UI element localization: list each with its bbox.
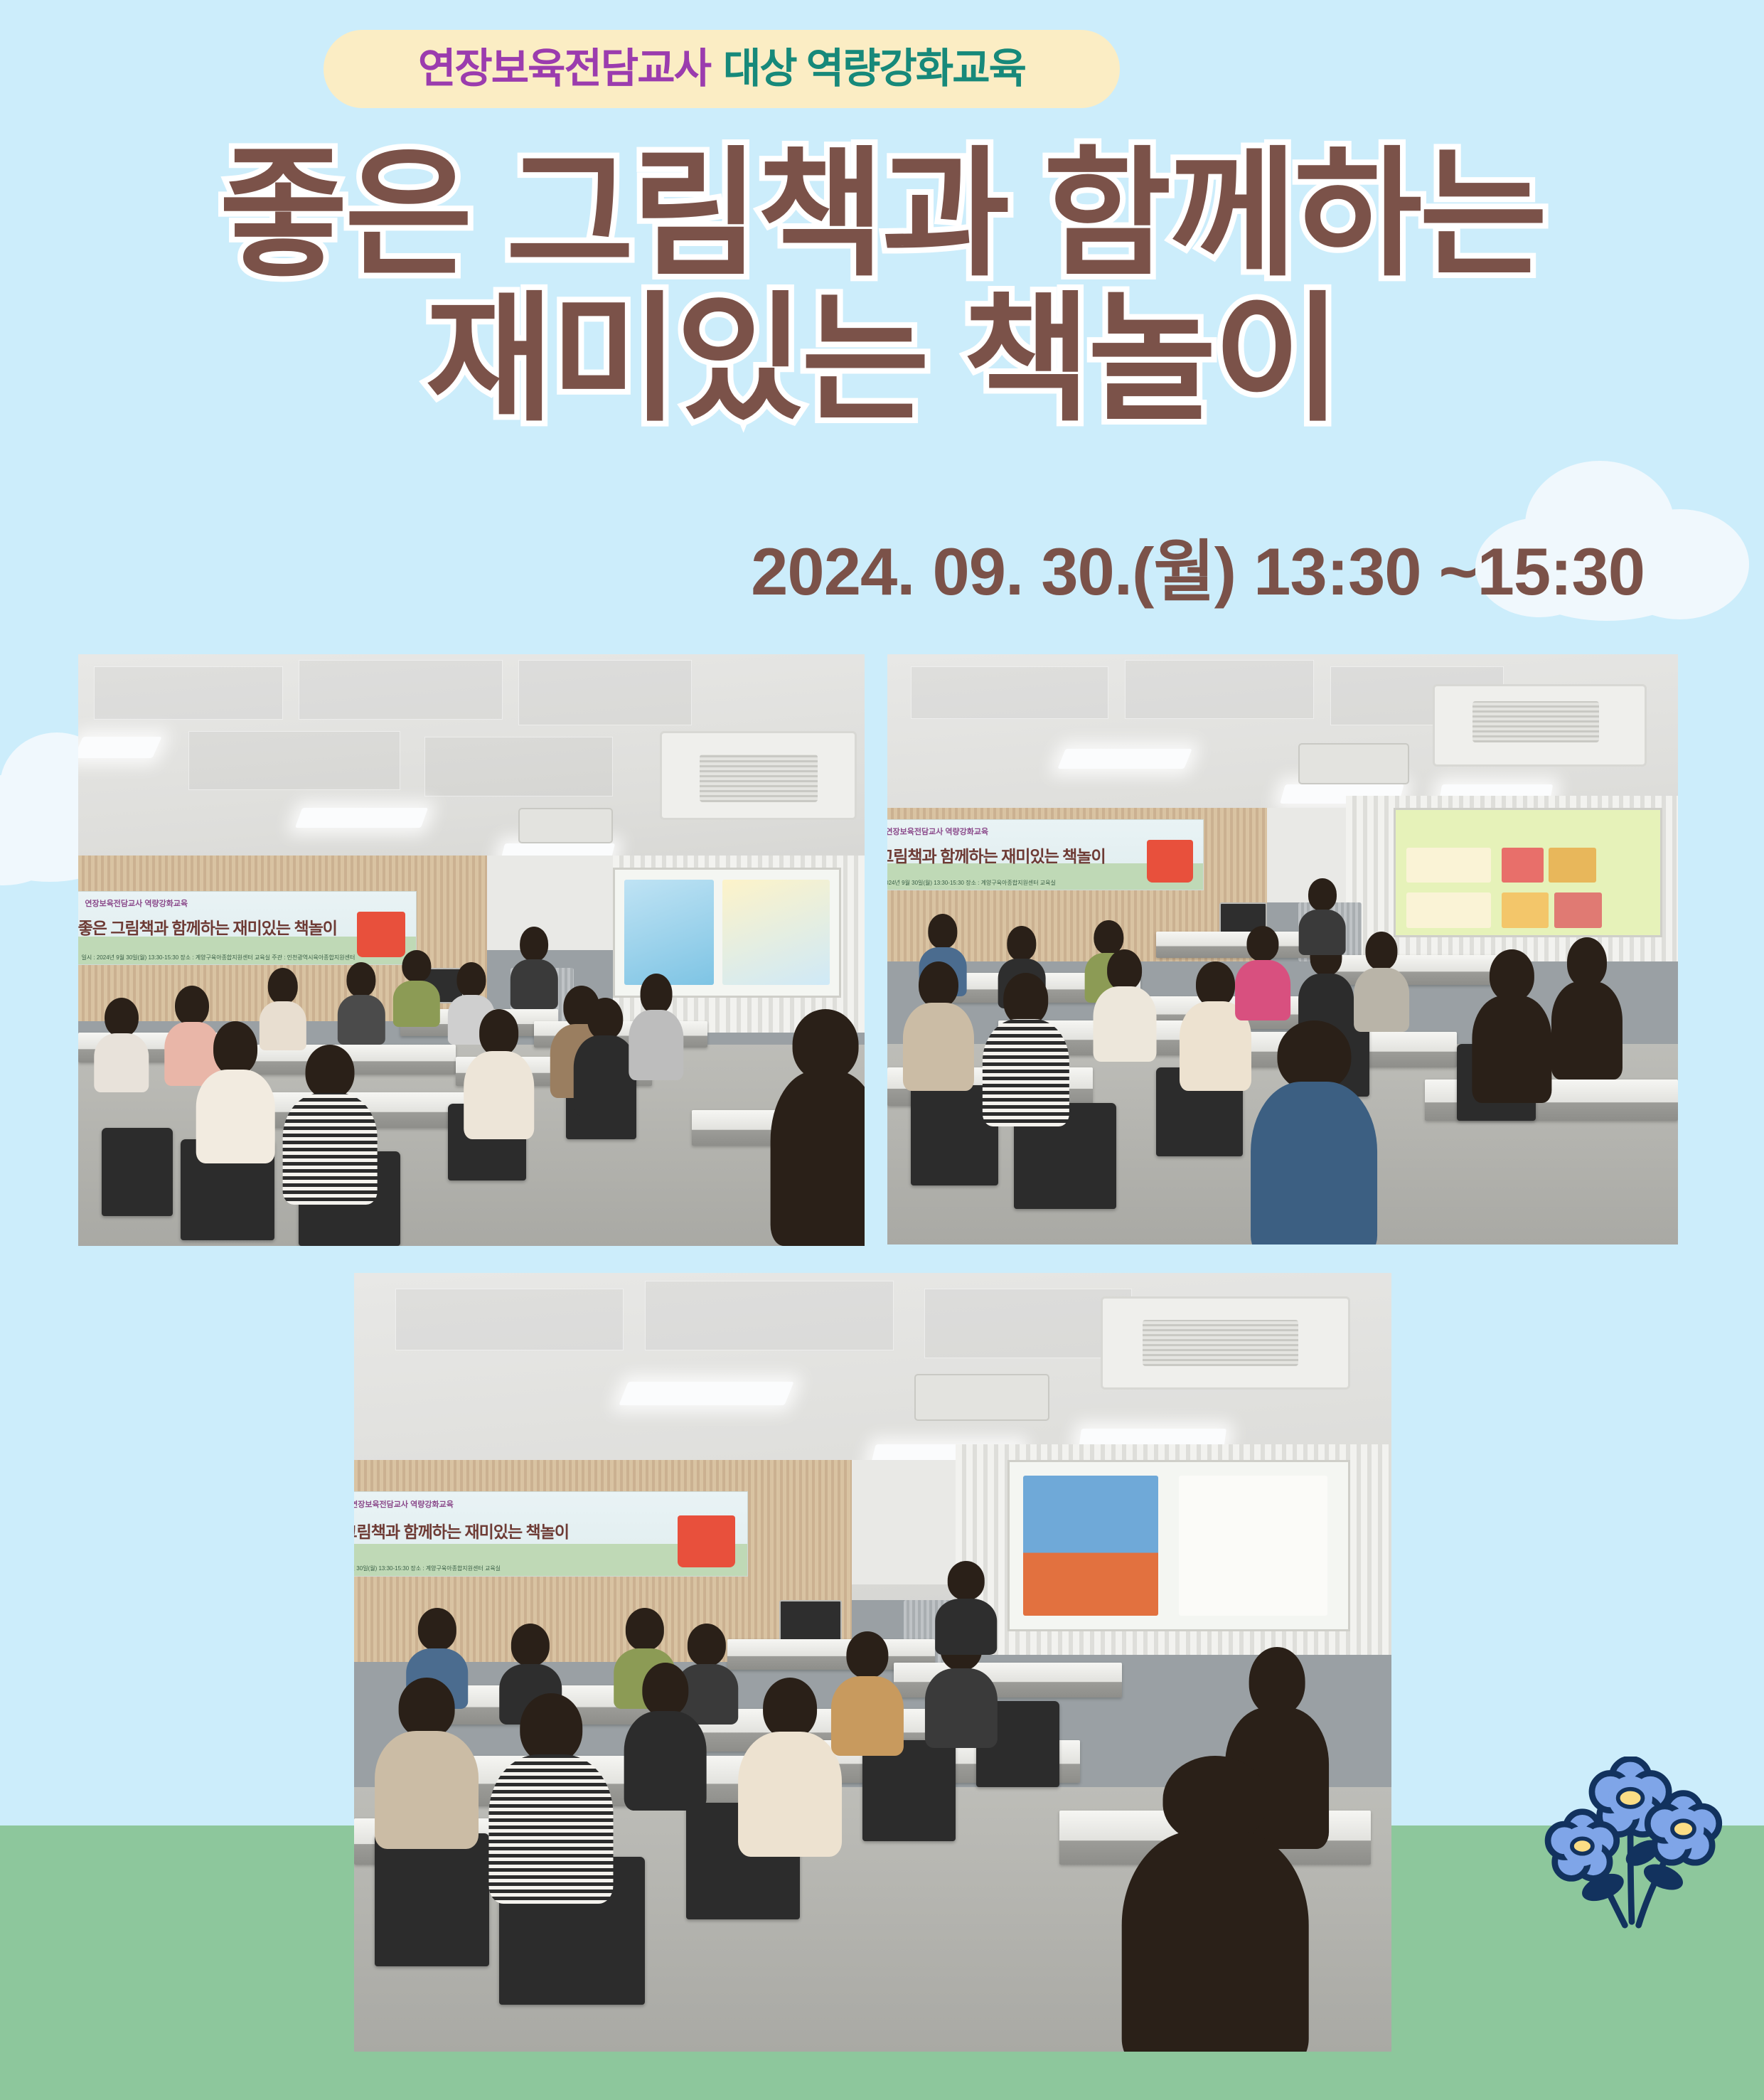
photo-banner-top-1: 연장보육전담교사 역량강화교육: [85, 897, 188, 909]
photo-banner-foot-3: 9월 30일(월) 13:30-15:30 장소 : 계양구육아종합지원센터 교…: [354, 1565, 501, 1572]
event-photo-3: 연장보육전담교사 역량강화교육 그림책과 함께하는 재미있는 책놀이 9월 30…: [354, 1273, 1391, 2052]
flower-bunch-icon: [1529, 1757, 1735, 1977]
header-badge: 연장보육전담교사 대상 역량강화교육: [324, 30, 1120, 108]
badge-primary-text: 연장보육전담교사: [418, 48, 710, 90]
event-datetime: 2024. 09. 30.(월) 13:30 ~15:30: [751, 518, 1645, 614]
badge-secondary-text: 대상 역량강화교육: [723, 48, 1025, 90]
title-line-1: 좋은 그림책과 함께하는: [0, 142, 1764, 287]
photo-banner-main-1: 좋은 그림책과 함께하는 재미있는 책놀이: [78, 915, 337, 939]
photo-banner-foot-2: 2024년 9월 30일(월) 13:30-15:30 장소 : 계양구육아종합…: [887, 879, 1056, 887]
poster-canvas: 연장보육전담교사 대상 역량강화교육 좋은 그림책과 함께하는 재미있는 책놀이…: [0, 0, 1764, 2100]
photo-banner-main-2: 그림책과 함께하는 재미있는 책놀이: [887, 843, 1106, 867]
event-photo-2: 연장보육전담교사 역량강화교육 그림책과 함께하는 재미있는 책놀이 2024년…: [887, 654, 1678, 1244]
title-line-2: 재미있는 책놀이: [0, 287, 1764, 432]
photo-banner-top-3: 연장보육전담교사 역량강화교육: [354, 1498, 454, 1510]
photo-banner-top-2: 연장보육전담교사 역량강화교육: [887, 826, 988, 837]
photo-banner-main-3: 그림책과 함께하는 재미있는 책놀이: [354, 1518, 569, 1542]
photo-banner-foot-1: 일시 : 2024년 9월 30일(월) 13:30-15:30 장소 : 계양…: [81, 954, 355, 961]
event-photo-1: 연장보육전담교사 역량강화교육 좋은 그림책과 함께하는 재미있는 책놀이 일시…: [78, 654, 865, 1246]
page-title: 좋은 그림책과 함께하는 재미있는 책놀이: [0, 142, 1764, 432]
